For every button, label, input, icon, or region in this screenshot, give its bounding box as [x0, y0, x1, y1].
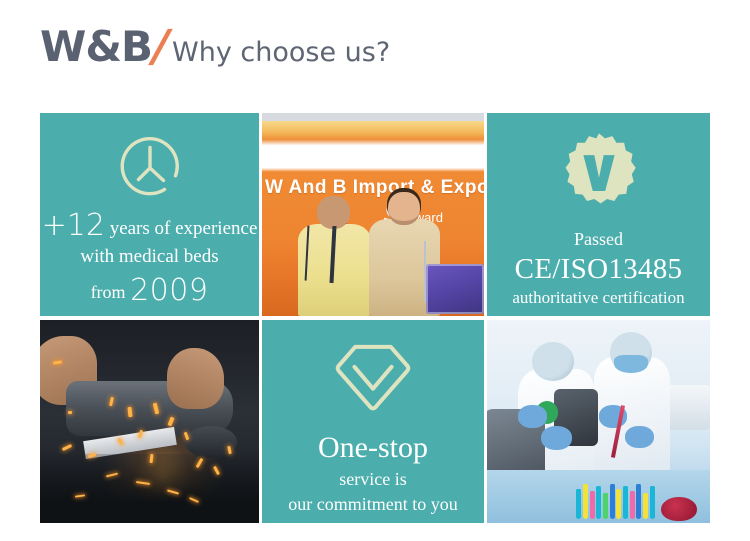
experience-years-value: +12 [42, 208, 105, 243]
certification-line-3: authoritative certification [487, 288, 710, 308]
glove-a [518, 405, 547, 427]
factory-photo-image [40, 320, 259, 523]
face-mask [614, 355, 647, 373]
experience-year-value: 2009 [130, 273, 208, 308]
glove-d [625, 426, 654, 448]
panel-factory-photo [40, 320, 259, 523]
verified-badge-icon [560, 131, 638, 209]
verified-badge-icon-wrap [487, 131, 710, 209]
features-grid: +12 years of experience with medical bed… [40, 113, 710, 523]
person-left [298, 224, 371, 316]
brand-slash-icon: / [152, 26, 170, 68]
panel-one-stop: One-stop service is our commitment to yo… [262, 320, 484, 523]
panel-tradeshow-photo: W And B Import & Expo AK 康医 forward Hea [262, 113, 484, 316]
one-stop-line-1: One-stop [262, 430, 484, 465]
glove-b [541, 426, 572, 450]
panel-certification-text: Passed CE/ISO13485 authoritative certifi… [487, 229, 710, 309]
clock-icon [113, 131, 187, 205]
experience-line-3: from 2009 [40, 273, 259, 308]
clock-icon-wrap [40, 131, 259, 205]
page-header: W&B/Why choose us? [40, 26, 390, 78]
experience-from-label: from [91, 282, 126, 302]
panel-one-stop-text: One-stop service is our commitment to yo… [262, 430, 484, 515]
diamond-check-icon-wrap [262, 342, 484, 416]
one-stop-line-3: our commitment to you [262, 494, 484, 515]
red-beaker [661, 497, 697, 521]
certification-line-1: Passed [487, 229, 710, 250]
lab-photo-image [487, 320, 710, 523]
technician-left-head [532, 342, 574, 381]
panel-experience-text: +12 years of experience with medical bed… [40, 208, 259, 308]
tradeshow-photo-image: W And B Import & Expo AK 康医 forward Hea [262, 113, 484, 316]
one-stop-line-2: service is [262, 469, 484, 490]
certification-standard: CE/ISO13485 [487, 252, 710, 286]
panel-certification: Passed CE/ISO13485 authoritative certifi… [487, 113, 710, 316]
experience-line-1: +12 years of experience [40, 208, 259, 243]
experience-line-2: with medical beds [40, 246, 259, 268]
diamond-check-icon [332, 342, 414, 416]
page-title: Why choose us? [172, 38, 390, 68]
panel-lab-photo [487, 320, 710, 523]
brand-logo-text: W&B [40, 26, 152, 68]
experience-years-label: years of experience [110, 218, 258, 239]
medical-bed [426, 264, 484, 313]
sparks-group [40, 320, 259, 523]
panel-experience: +12 years of experience with medical bed… [40, 113, 259, 316]
booth-people-group [262, 198, 484, 316]
